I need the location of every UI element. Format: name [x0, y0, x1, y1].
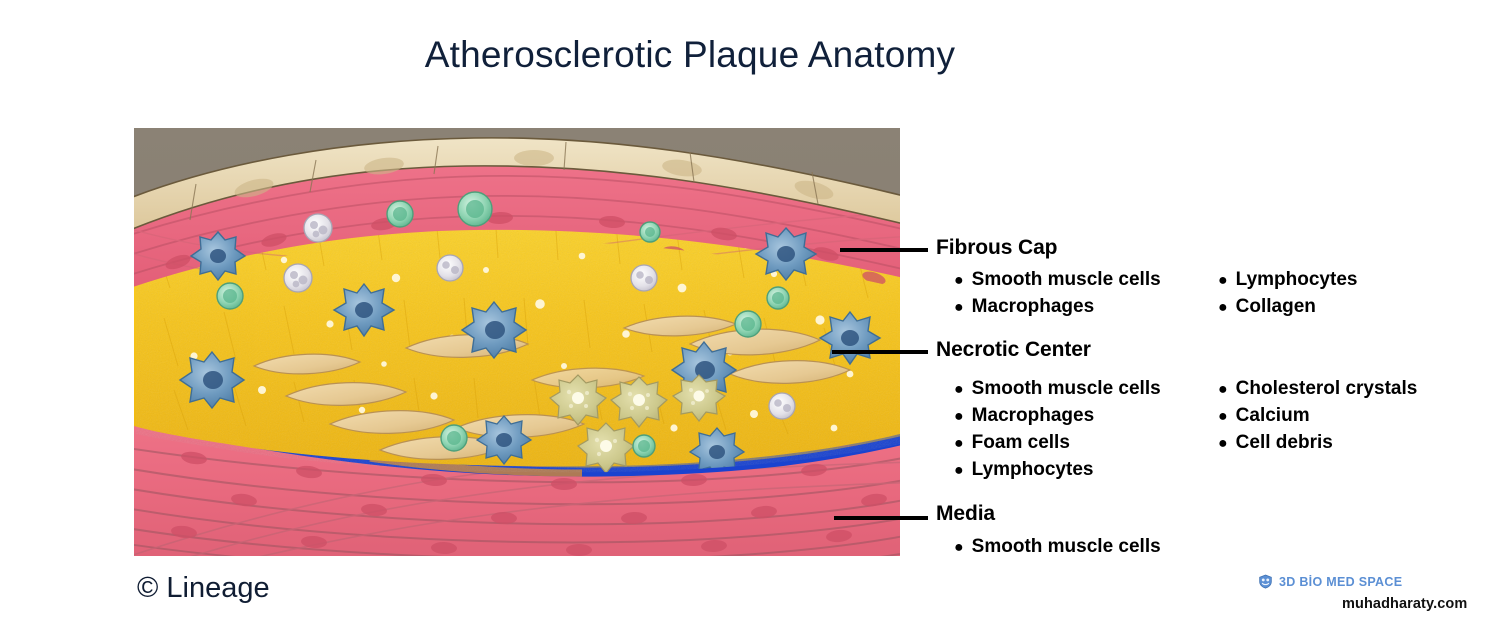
bullet-icon: ●: [954, 535, 964, 561]
bullet-icon: ●: [1218, 431, 1228, 457]
list-item: ● Smooth muscle cells: [954, 534, 1161, 561]
leader-line-fibrous-cap: [840, 248, 928, 252]
bullet-icon: ●: [954, 295, 964, 321]
annotation-left-column: ● Smooth muscle cells ● Macrophages ● Fo…: [954, 376, 1161, 484]
brand-name: 3D BİO MED SPACE: [1279, 575, 1402, 589]
list-item: ● Lymphocytes: [1218, 267, 1357, 294]
list-item-label: Foam cells: [972, 430, 1070, 456]
bullet-icon: ●: [954, 404, 964, 430]
list-item-label: Lymphocytes: [972, 457, 1094, 483]
bullet-icon: ●: [1218, 268, 1228, 294]
list-item-label: Smooth muscle cells: [972, 376, 1161, 402]
list-item-label: Macrophages: [972, 403, 1094, 429]
list-item-label: Collagen: [1236, 294, 1316, 320]
bullet-icon: ●: [954, 377, 964, 403]
list-item-label: Lymphocytes: [1236, 267, 1358, 293]
list-item: ● Cholesterol crystals: [1218, 376, 1417, 403]
annotation-necrotic-center: Necrotic Center ● Smooth muscle cells ● …: [936, 338, 1091, 486]
list-item: ● Foam cells: [954, 430, 1161, 457]
annotation-right-column: ● Cholesterol crystals ● Calcium ● Cell …: [1218, 376, 1417, 457]
bullet-icon: ●: [1218, 404, 1228, 430]
annotation-right-column: ● Lymphocytes ● Collagen: [1218, 267, 1357, 321]
annotation-left-column: ● Smooth muscle cells: [954, 534, 1161, 561]
list-item: ● Collagen: [1218, 294, 1357, 321]
bullet-icon: ●: [954, 458, 964, 484]
leader-line-necrotic-center: [832, 350, 928, 354]
leader-line-media: [834, 516, 928, 520]
bullet-icon: ●: [954, 431, 964, 457]
artery-cross-section-svg: [134, 128, 900, 556]
list-item: ● Smooth muscle cells: [954, 267, 1161, 294]
list-item: ● Cell debris: [1218, 430, 1417, 457]
list-item-label: Cell debris: [1236, 430, 1333, 456]
branding-block: 3D BİO MED SPACE muhadharaty.com: [1258, 574, 1488, 612]
bullet-icon: ●: [1218, 377, 1228, 403]
annotation-left-column: ● Smooth muscle cells ● Macrophages: [954, 267, 1161, 321]
list-item: ● Calcium: [1218, 403, 1417, 430]
annotation-media: Media ● Smooth muscle cells: [936, 502, 995, 562]
list-item: ● Macrophages: [954, 294, 1161, 321]
list-item-label: Smooth muscle cells: [972, 267, 1161, 293]
annotation-fibrous-cap: Fibrous Cap ● Smooth muscle cells ● Macr…: [936, 236, 1057, 323]
bullet-icon: ●: [1218, 295, 1228, 321]
annotation-heading: Necrotic Center: [936, 338, 1091, 362]
list-item-label: Cholesterol crystals: [1236, 376, 1418, 402]
page-title: Atherosclerotic Plaque Anatomy: [0, 34, 1380, 76]
list-item: ● Smooth muscle cells: [954, 376, 1161, 403]
plaque-illustration: [134, 128, 900, 556]
annotation-heading: Fibrous Cap: [936, 236, 1057, 260]
list-item-label: Calcium: [1236, 403, 1310, 429]
brand-website: muhadharaty.com: [1342, 596, 1488, 612]
list-item: ● Macrophages: [954, 403, 1161, 430]
list-item: ● Lymphocytes: [954, 457, 1161, 484]
list-item-label: Macrophages: [972, 294, 1094, 320]
shield-logo-icon: [1258, 574, 1273, 589]
copyright-credit: © Lineage: [137, 572, 270, 605]
list-item-label: Smooth muscle cells: [972, 534, 1161, 560]
annotation-heading: Media: [936, 502, 995, 526]
bullet-icon: ●: [954, 268, 964, 294]
